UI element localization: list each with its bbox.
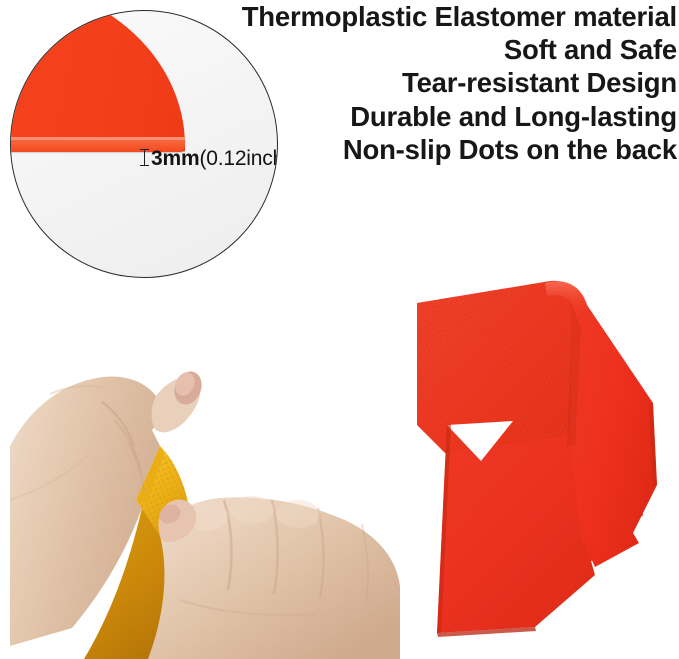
feature-line-3: Tear-resistant Design: [190, 66, 677, 99]
feature-text-block: Thermoplastic Elastomer material Soft an…: [190, 0, 677, 166]
dimension-ibeam-icon: [140, 149, 149, 166]
feature-line-5: Non-slip Dots on the back: [190, 133, 677, 166]
feature-line-1: Thermoplastic Elastomer material: [190, 0, 677, 33]
hands-stretching-mat-photo: [10, 350, 400, 659]
feature-line-4: Durable and Long-lasting: [190, 100, 677, 133]
product-feature-image: 3mm(0.12inch) Thermoplastic Elastomer ma…: [0, 0, 679, 659]
red-folded-mat-photo: [395, 275, 679, 647]
right-hand: [148, 496, 400, 659]
mat-corner-wedge: [10, 10, 185, 151]
feature-line-2: Soft and Safe: [190, 33, 677, 66]
